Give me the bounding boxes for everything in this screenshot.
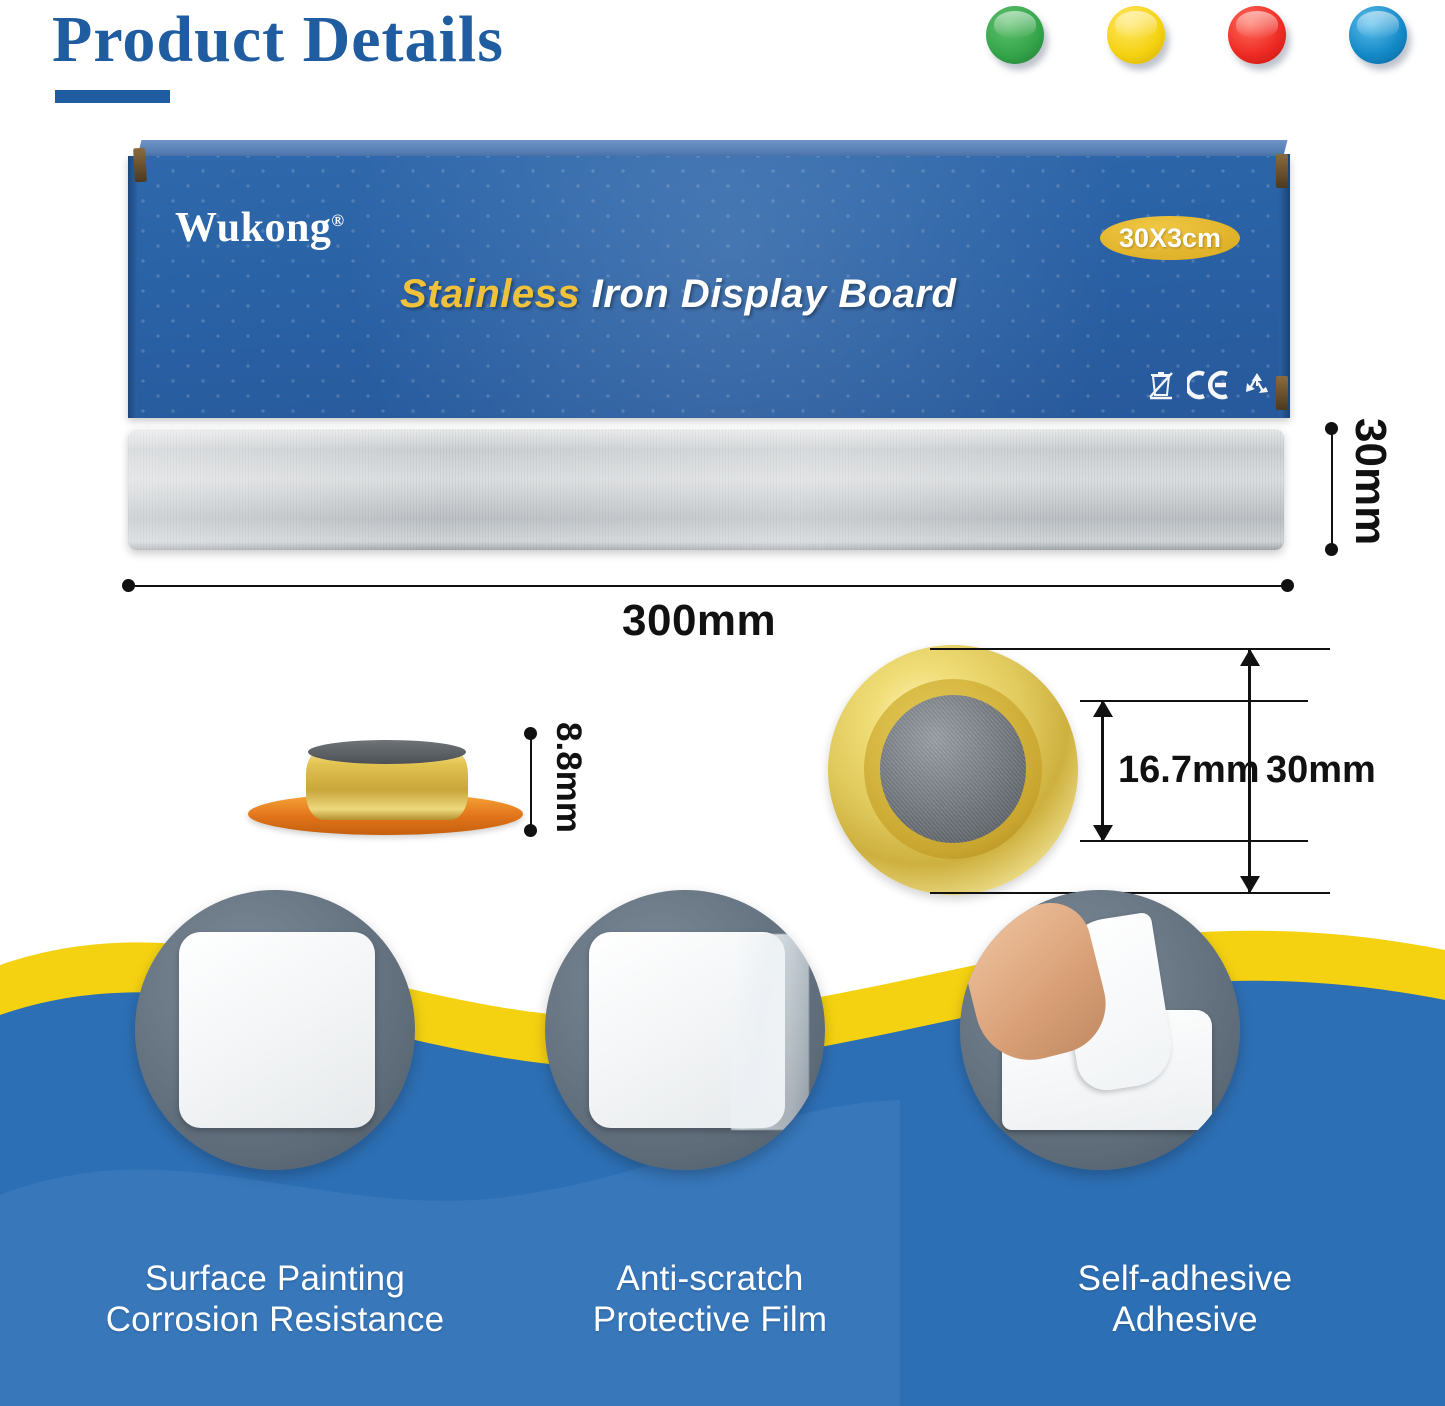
magnet-thickness-label: 8.8mm — [548, 722, 588, 833]
feature-caption-surface-painting: Surface Painting Corrosion Resistance — [35, 1258, 515, 1341]
magnet-core-top — [308, 740, 466, 764]
page-title: Product Details — [52, 2, 504, 78]
height-dimension-line — [1331, 428, 1333, 550]
feature-image-anti-scratch — [545, 890, 825, 1170]
feature-image-surface-painting — [135, 890, 415, 1170]
weee-bin-icon — [1148, 370, 1174, 400]
feature-caption-self-adhesive: Self-adhesive Adhesive — [1020, 1258, 1350, 1341]
outer-dim-leader-top — [930, 648, 1330, 650]
feature-circle-3 — [960, 890, 1240, 1170]
tagline-highlight: Stainless — [400, 272, 580, 316]
red-dot — [1228, 6, 1286, 64]
yellow-dot — [1107, 6, 1165, 64]
outer-dim-arrow-down-icon — [1239, 875, 1261, 893]
inner-dim-arrow-line — [1101, 700, 1104, 842]
length-dim-cap-left — [122, 579, 135, 592]
length-dimension-label: 300mm — [622, 596, 776, 646]
blue-dot — [1349, 6, 1407, 64]
caption-2-line-1: Anti-scratch — [545, 1258, 875, 1299]
color-dot-row — [986, 6, 1407, 64]
feature-caption-anti-scratch: Anti-scratch Protective Film — [545, 1258, 875, 1341]
height-dim-cap-bottom — [1325, 543, 1338, 556]
caption-2-line-2: Protective Film — [545, 1299, 875, 1340]
stainless-display-board — [128, 428, 1284, 550]
length-dim-cap-right — [1281, 579, 1294, 592]
caption-3-line-2: Adhesive — [1020, 1299, 1350, 1340]
recycle-icon — [1242, 370, 1272, 400]
inner-dim-arrow-down-icon — [1092, 824, 1114, 842]
tagline-rest: Iron Display Board — [580, 272, 956, 316]
outer-dim-arrow-up-icon — [1239, 649, 1261, 667]
size-badge: 30X3cm — [1100, 216, 1240, 260]
outer-dim-arrow-line — [1248, 648, 1251, 894]
metal-plate-photo — [179, 932, 375, 1128]
green-dot — [986, 6, 1044, 64]
registered-mark: ® — [331, 211, 344, 230]
box-left-edge — [128, 156, 137, 418]
magnet-outer-diameter-label: 30mm — [1266, 749, 1376, 792]
box-tab-right-top — [1276, 154, 1288, 188]
protective-film-overlay — [731, 934, 809, 1130]
magnet-top-view — [828, 645, 1078, 895]
caption-1-line-1: Surface Painting — [35, 1258, 515, 1299]
magnet-steel-core — [880, 695, 1026, 843]
inner-dim-leader-bottom — [1080, 840, 1308, 842]
thickness-dim-cap-bottom — [524, 824, 537, 837]
magnet-inner-diameter-label: 16.7mm — [1118, 749, 1260, 792]
ce-mark-icon — [1187, 370, 1229, 400]
feature-circle-1 — [135, 890, 415, 1170]
height-dim-cap-top — [1325, 422, 1338, 435]
height-dimension-label: 30mm — [1345, 418, 1395, 545]
caption-1-line-2: Corrosion Resistance — [35, 1299, 515, 1340]
inner-dim-arrow-up-icon — [1092, 700, 1114, 718]
inner-dim-leader-top — [1080, 700, 1308, 702]
feature-circle-2 — [545, 890, 825, 1170]
package-tagline: Stainless Iron Display Board — [400, 272, 956, 317]
certification-marks — [1148, 370, 1272, 400]
brand-logo: Wukong® — [175, 204, 345, 252]
thickness-dim-cap-top — [524, 727, 537, 740]
title-underline-accent — [55, 90, 170, 103]
brand-name: Wukong — [175, 205, 331, 251]
magnet-thickness-dimension-line — [530, 733, 532, 831]
caption-3-line-1: Self-adhesive — [1020, 1258, 1350, 1299]
length-dimension-line — [128, 585, 1288, 587]
feature-image-self-adhesive — [960, 890, 1240, 1170]
magnet-side-view — [248, 730, 523, 835]
box-tab-left — [133, 148, 147, 183]
box-tab-right-bottom — [1276, 376, 1288, 410]
